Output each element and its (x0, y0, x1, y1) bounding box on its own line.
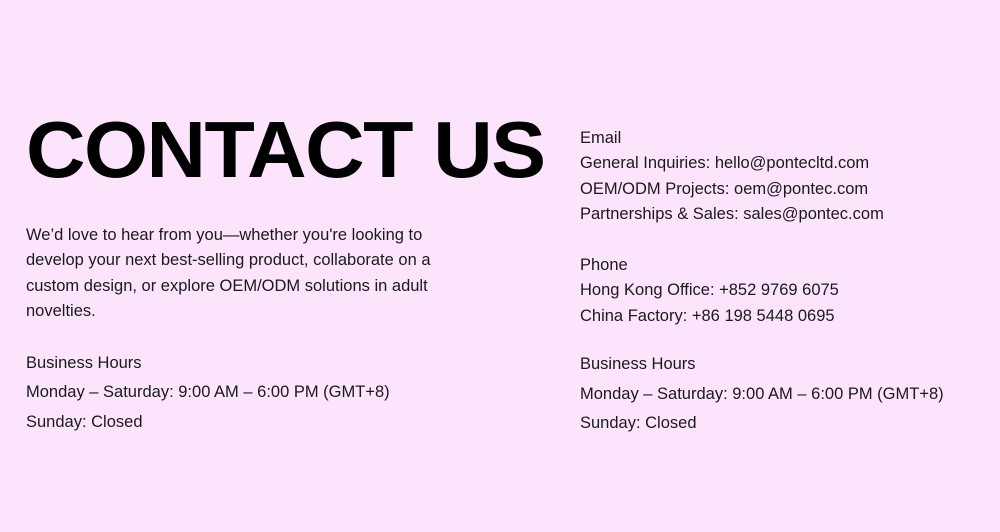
email-block: Email General Inquiries: hello@pontecltd… (580, 126, 990, 228)
right-business-hours-heading: Business Hours (580, 350, 990, 380)
right-business-hours-weekday: Monday – Saturday: 9:00 AM – 6:00 PM (GM… (580, 380, 990, 410)
right-business-hours-block: Business Hours Monday – Saturday: 9:00 A… (580, 329, 990, 439)
page-title: CONTACT US (26, 108, 520, 192)
phone-heading: Phone (580, 253, 990, 278)
phone-hong-kong-office[interactable]: Hong Kong Office: +852 9769 6075 (580, 278, 990, 303)
email-heading: Email (580, 126, 990, 151)
email-oem-odm-projects[interactable]: OEM/ODM Projects: oem@pontec.com (580, 177, 990, 202)
intro-paragraph: We’d love to hear from you—whether you'r… (26, 192, 451, 325)
left-business-hours-block: Business Hours Monday – Saturday: 9:00 A… (26, 325, 506, 438)
contact-left-column: CONTACT US We’d love to hear from you—wh… (26, 108, 506, 437)
left-business-hours-sunday: Sunday: Closed (26, 408, 506, 438)
right-business-hours-sunday: Sunday: Closed (580, 409, 990, 439)
left-business-hours-weekday: Monday – Saturday: 9:00 AM – 6:00 PM (GM… (26, 378, 506, 408)
left-business-hours-heading: Business Hours (26, 349, 506, 379)
email-general-inquiries[interactable]: General Inquiries: hello@pontecltd.com (580, 151, 990, 176)
contact-right-column: Email General Inquiries: hello@pontecltd… (580, 126, 990, 439)
phone-china-factory[interactable]: China Factory: +86 198 5448 0695 (580, 304, 990, 329)
phone-block: Phone Hong Kong Office: +852 9769 6075 C… (580, 228, 990, 330)
email-partnerships-sales[interactable]: Partnerships & Sales: sales@pontec.com (580, 202, 990, 227)
contact-us-section: CONTACT US We’d love to hear from you—wh… (0, 0, 1000, 532)
